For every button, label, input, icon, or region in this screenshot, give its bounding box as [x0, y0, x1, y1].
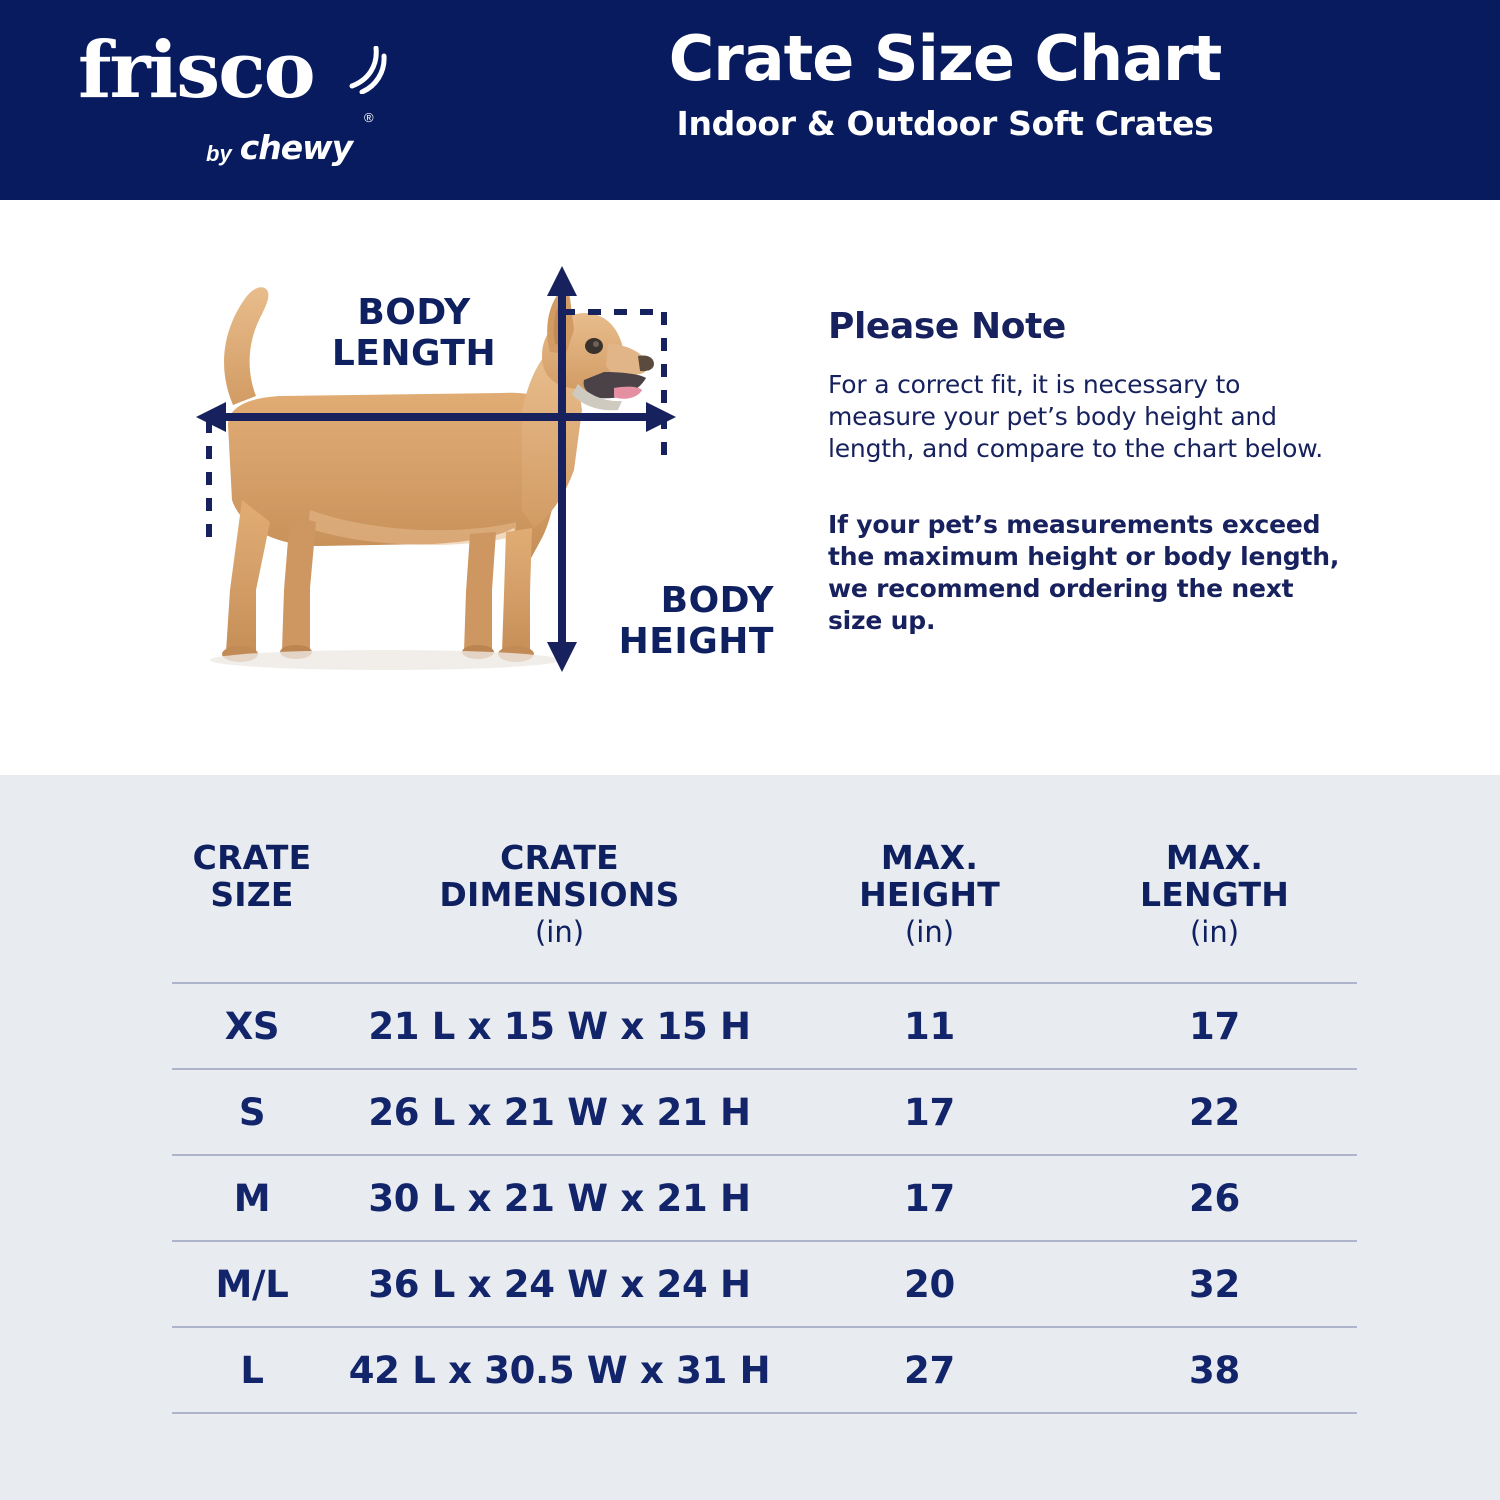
cell-crate-size: XS [172, 983, 332, 1069]
column-header-max-height-line1: MAX. [881, 838, 978, 877]
body-length-label: BODY LENGTH [304, 292, 524, 374]
header-title-block: Crate Size Chart Indoor & Outdoor Soft C… [420, 26, 1470, 143]
body-length-label-line2: LENGTH [332, 333, 496, 374]
dog-measurement-diagram: BODY LENGTH BODY HEIGHT [170, 260, 790, 680]
column-header-crate-size-line2: SIZE [210, 875, 293, 914]
cell-max-length: 32 [1072, 1241, 1357, 1327]
crate-size-chart-page: frisco ® by chewy Crate Size Chart Indoo… [0, 0, 1500, 1500]
body-length-label-line1: BODY [357, 292, 470, 333]
table-row: S 26 L x 21 W x 21 H 17 22 [172, 1069, 1357, 1155]
size-table-section: CRATE SIZE CRATE DIMENSIONS (in) MAX. HE… [0, 775, 1500, 1500]
by-chewy-lockup: by chewy [206, 128, 352, 167]
body-height-label-line1: BODY [661, 580, 774, 621]
cell-crate-size: M [172, 1155, 332, 1241]
cell-crate-size: S [172, 1069, 332, 1155]
cell-max-height: 17 [787, 1155, 1072, 1241]
column-header-crate-size-line1: CRATE [193, 838, 312, 877]
cell-crate-dimensions: 21 L x 15 W x 15 H [332, 983, 787, 1069]
cell-max-length: 26 [1072, 1155, 1357, 1241]
body-height-label-line2: HEIGHT [619, 621, 774, 662]
cell-max-height: 17 [787, 1069, 1072, 1155]
cell-crate-dimensions: 36 L x 24 W x 24 H [332, 1241, 787, 1327]
column-header-crate-dimensions-line1: CRATE [500, 838, 619, 877]
please-note-paragraph-1: For a correct fit, it is necessary to me… [828, 369, 1348, 465]
crate-size-table: CRATE SIZE CRATE DIMENSIONS (in) MAX. HE… [172, 840, 1357, 1414]
please-note-paragraph-2: If your pet’s measurements exceed the ma… [828, 509, 1348, 637]
page-title: Crate Size Chart [420, 26, 1470, 92]
page-subtitle: Indoor & Outdoor Soft Crates [420, 104, 1470, 143]
column-header-crate-size: CRATE SIZE [172, 840, 332, 983]
table-row: M 30 L x 21 W x 21 H 17 26 [172, 1155, 1357, 1241]
registered-mark: ® [364, 110, 374, 125]
chewy-wordmark: chewy [240, 128, 352, 167]
column-header-max-height-unit: (in) [787, 916, 1072, 948]
by-label: by [206, 141, 232, 167]
cell-max-length: 17 [1072, 983, 1357, 1069]
table-row: M/L 36 L x 24 W x 24 H 20 32 [172, 1241, 1357, 1327]
brand-wordmark: frisco [78, 32, 314, 110]
measurement-section: BODY LENGTH BODY HEIGHT Please Note For … [0, 200, 1500, 775]
column-header-max-length-line2: LENGTH [1140, 875, 1289, 914]
dog-tail-swoosh-icon [346, 46, 390, 94]
column-header-max-height-line2: HEIGHT [859, 875, 1000, 914]
column-header-max-length: MAX. LENGTH (in) [1072, 840, 1357, 983]
column-header-crate-dimensions-unit: (in) [332, 916, 787, 948]
column-header-max-height: MAX. HEIGHT (in) [787, 840, 1072, 983]
page-header: frisco ® by chewy Crate Size Chart Indoo… [0, 0, 1500, 200]
table-row: XS 21 L x 15 W x 15 H 11 17 [172, 983, 1357, 1069]
column-header-max-length-unit: (in) [1072, 916, 1357, 948]
please-note-heading: Please Note [828, 306, 1348, 347]
table-body: XS 21 L x 15 W x 15 H 11 17 S 26 L x 21 … [172, 983, 1357, 1413]
table-header-row-group: CRATE SIZE CRATE DIMENSIONS (in) MAX. HE… [172, 840, 1357, 983]
column-header-max-length-line1: MAX. [1166, 838, 1263, 877]
cell-crate-size: L [172, 1327, 332, 1413]
cell-crate-dimensions: 42 L x 30.5 W x 31 H [332, 1327, 787, 1413]
cell-max-height: 27 [787, 1327, 1072, 1413]
cell-crate-dimensions: 26 L x 21 W x 21 H [332, 1069, 787, 1155]
cell-crate-dimensions: 30 L x 21 W x 21 H [332, 1155, 787, 1241]
table-row: L 42 L x 30.5 W x 31 H 27 38 [172, 1327, 1357, 1413]
body-height-arrow-top-head [547, 266, 577, 296]
table-header-row: CRATE SIZE CRATE DIMENSIONS (in) MAX. HE… [172, 840, 1357, 983]
cell-max-height: 11 [787, 983, 1072, 1069]
please-note-panel: Please Note For a correct fit, it is nec… [828, 306, 1348, 637]
column-header-crate-dimensions-line2: DIMENSIONS [439, 875, 679, 914]
cell-crate-size: M/L [172, 1241, 332, 1327]
body-height-label: BODY HEIGHT [574, 580, 774, 662]
cell-max-height: 20 [787, 1241, 1072, 1327]
column-header-crate-dimensions: CRATE DIMENSIONS (in) [332, 840, 787, 983]
frisco-logo: frisco ® by chewy [78, 32, 388, 172]
cell-max-length: 38 [1072, 1327, 1357, 1413]
cell-max-length: 22 [1072, 1069, 1357, 1155]
